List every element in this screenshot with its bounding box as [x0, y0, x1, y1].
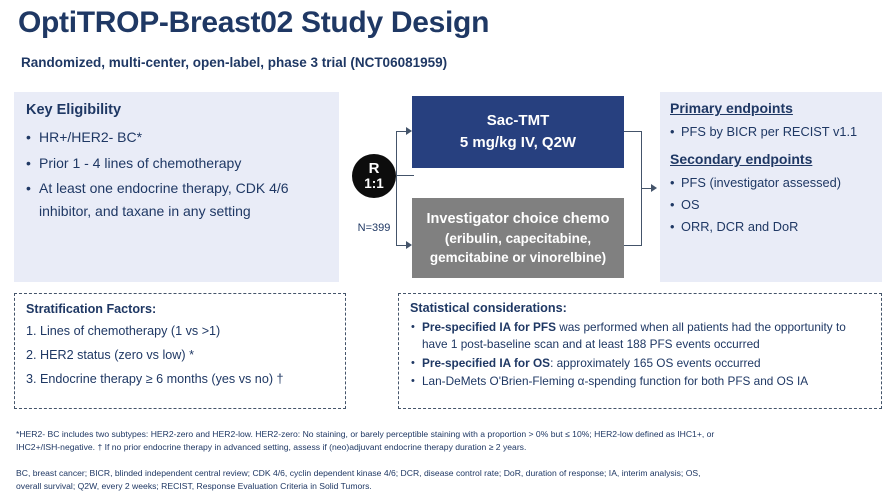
study-design-slide: OptiTROP-Breast02 Study Design Randomize… [0, 0, 890, 500]
key-eligibility-panel: Key Eligibility HR+/HER2- BC* Prior 1 - … [14, 92, 339, 282]
secondary-endpoints-list: PFS (investigator assessed) OS ORR, DCR … [670, 173, 872, 237]
list-item: Lan-DeMets O'Brien-Fleming α-spending fu… [410, 373, 870, 390]
statistics-list: Pre-specified IA for PFS was performed w… [410, 319, 870, 391]
statistics-heading: Statistical considerations: [410, 301, 870, 315]
statistics-item-rest: : approximately 165 OS events occurred [550, 356, 760, 370]
list-item: At least one endocrine therapy, CDK 4/6 … [26, 177, 327, 222]
footnotes-block: *HER2- BC includes two subtypes: HER2-ze… [16, 428, 878, 454]
footnote-line-2: IHC2+/ISH-negative. † If no prior endocr… [16, 441, 878, 454]
sample-size-label: N=399 [352, 222, 396, 234]
list-item: PFS (investigator assessed) [670, 173, 872, 193]
stratification-factors-panel: Stratification Factors: 1. Lines of chem… [14, 293, 346, 409]
list-item: Pre-specified IA for PFS was performed w… [410, 319, 870, 354]
arm-drug-name: Investigator choice chemo [427, 209, 610, 229]
arm-options-line2: gemcitabine or vinorelbine) [430, 248, 606, 267]
list-item: OS [670, 195, 872, 215]
sac-tmt-arm: Sac-TMT 5 mg/kg IV, Q2W [412, 96, 624, 168]
primary-endpoints-list: PFS by BICR per RECIST v1.1 [670, 122, 872, 142]
list-item: 2. HER2 status (zero vs low) * [26, 346, 334, 365]
page-subtitle: Randomized, multi-center, open-label, ph… [21, 55, 447, 70]
arrow-to-endpoints [651, 184, 657, 192]
list-item: Pre-specified IA for OS: approximately 1… [410, 355, 870, 372]
arm-drug-name: Sac-TMT [487, 110, 550, 132]
connector-from-arm-a [624, 131, 642, 132]
randomization-label: R [369, 161, 380, 176]
randomization-ratio: 1:1 [364, 177, 384, 191]
stratification-heading: Stratification Factors: [26, 302, 334, 316]
abbreviation-line-1: BC, breast cancer; BICR, blinded indepen… [16, 467, 878, 480]
abbreviation-line-2: overall survival; Q2W, every 2 weeks; RE… [16, 480, 878, 493]
list-item: 1. Lines of chemotherapy (1 vs >1) [26, 322, 334, 341]
list-item: Prior 1 - 4 lines of chemotherapy [26, 152, 327, 175]
connector-rand-stem [396, 175, 414, 176]
primary-endpoints-heading: Primary endpoints [670, 100, 872, 116]
arm-options-line1: (eribulin, capecitabine, [445, 229, 591, 248]
randomization-node: R 1:1 [352, 154, 396, 198]
list-item: 3. Endocrine therapy ≥ 6 months (yes vs … [26, 370, 334, 389]
list-item: ORR, DCR and DoR [670, 217, 872, 237]
statistics-item-lead: Pre-specified IA for PFS [422, 320, 556, 334]
secondary-endpoints-heading: Secondary endpoints [670, 151, 872, 167]
stratification-list: 1. Lines of chemotherapy (1 vs >1) 2. HE… [26, 322, 334, 389]
arm-dose: 5 mg/kg IV, Q2W [460, 132, 576, 154]
statistical-considerations-panel: Statistical considerations: Pre-specifie… [398, 293, 882, 409]
statistics-item-rest: Lan-DeMets O'Brien-Fleming α-spending fu… [422, 374, 808, 388]
page-title: OptiTROP-Breast02 Study Design [18, 6, 489, 40]
abbreviations-block: BC, breast cancer; BICR, blinded indepen… [16, 467, 878, 493]
key-eligibility-list: HR+/HER2- BC* Prior 1 - 4 lines of chemo… [26, 126, 327, 223]
list-item: HR+/HER2- BC* [26, 126, 327, 149]
statistics-item-lead: Pre-specified IA for OS [422, 356, 550, 370]
footnote-line-1: *HER2- BC includes two subtypes: HER2-ze… [16, 428, 878, 441]
connector-from-arm-b [624, 245, 642, 246]
key-eligibility-heading: Key Eligibility [26, 102, 327, 118]
investigator-choice-arm: Investigator choice chemo (eribulin, cap… [412, 198, 624, 278]
list-item: PFS by BICR per RECIST v1.1 [670, 122, 872, 142]
endpoints-panel: Primary endpoints PFS by BICR per RECIST… [660, 92, 882, 282]
connector-rand-split [396, 131, 397, 245]
